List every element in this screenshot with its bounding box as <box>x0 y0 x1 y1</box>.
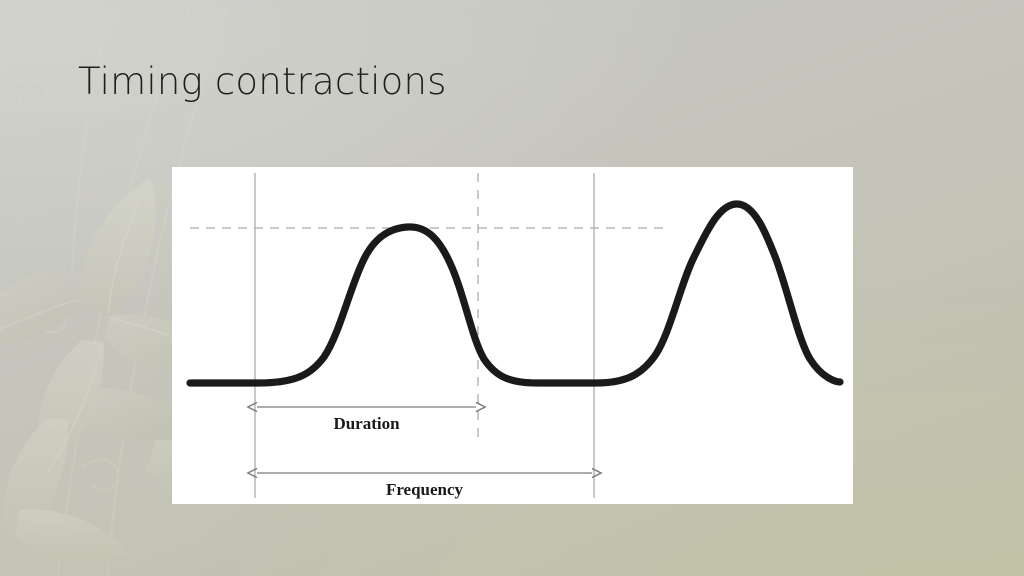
duration-label: Duration <box>255 414 478 434</box>
contraction-figure-panel <box>172 167 853 504</box>
frequency-label: Frequency <box>255 480 594 500</box>
page-title: Timing contractions <box>78 60 447 103</box>
slide-canvas: Timing contractions <box>0 0 1024 576</box>
uterine-contraction-trace <box>190 204 840 383</box>
